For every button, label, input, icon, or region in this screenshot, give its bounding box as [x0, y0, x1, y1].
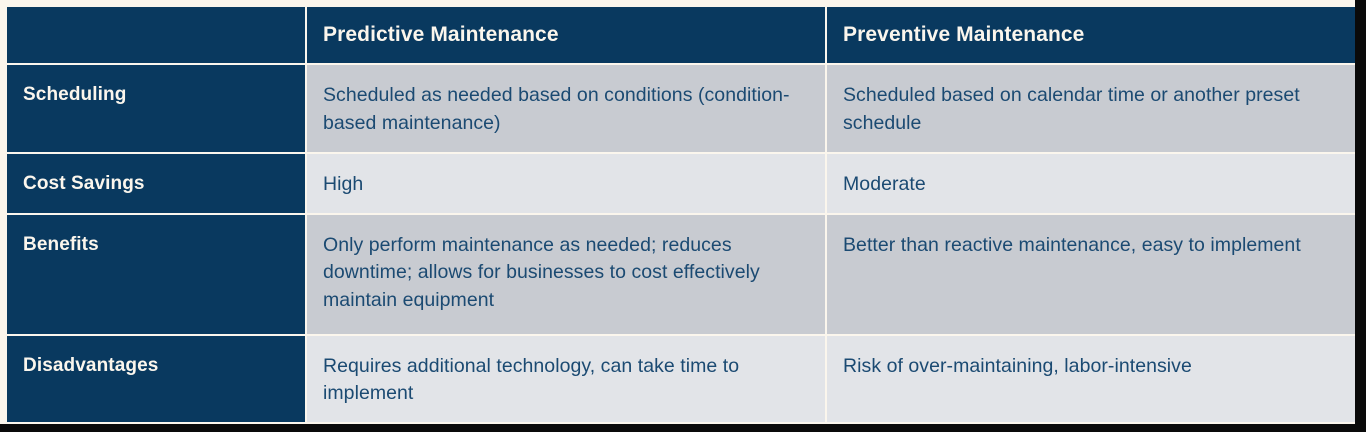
row-label-cell-disadvantages: Disadvantages — [7, 336, 305, 422]
cell-text-benefits-predictive: Only perform maintenance as needed; redu… — [307, 215, 825, 329]
table-header-row: Predictive Maintenance Preventive Mainte… — [7, 7, 1359, 63]
cell-text-benefits-preventive: Better than reactive maintenance, easy t… — [827, 215, 1359, 274]
cell-cost-savings-predictive: High — [307, 154, 825, 213]
header-cell-predictive: Predictive Maintenance — [307, 7, 825, 63]
cell-cost-savings-preventive: Moderate — [827, 154, 1359, 213]
cell-scheduling-preventive: Scheduled based on calendar time or anot… — [827, 65, 1359, 152]
header-blank-label — [7, 7, 305, 63]
row-label-cell-scheduling: Scheduling — [7, 65, 305, 152]
cell-text-disadvantages-preventive: Risk of over-maintaining, labor-intensiv… — [827, 336, 1359, 395]
header-cell-blank — [7, 7, 305, 63]
row-label-cell-cost-savings: Cost Savings — [7, 154, 305, 213]
comparison-table-canvas: Predictive Maintenance Preventive Mainte… — [0, 0, 1366, 432]
table-row: Scheduling Scheduled as needed based on … — [7, 65, 1359, 152]
cell-text-disadvantages-predictive: Requires additional technology, can take… — [307, 336, 825, 422]
page-edge-bottom — [0, 424, 1366, 432]
cell-text-cost-savings-predictive: High — [307, 154, 825, 213]
row-label-cell-benefits: Benefits — [7, 215, 305, 334]
table-row: Cost Savings High Moderate — [7, 154, 1359, 213]
cell-disadvantages-preventive: Risk of over-maintaining, labor-intensiv… — [827, 336, 1359, 422]
cell-scheduling-predictive: Scheduled as needed based on conditions … — [307, 65, 825, 152]
header-label-preventive: Preventive Maintenance — [827, 22, 1359, 47]
row-label-scheduling: Scheduling — [7, 65, 305, 123]
cell-benefits-predictive: Only perform maintenance as needed; redu… — [307, 215, 825, 334]
cell-disadvantages-predictive: Requires additional technology, can take… — [307, 336, 825, 422]
cell-text-cost-savings-preventive: Moderate — [827, 154, 1359, 213]
cell-benefits-preventive: Better than reactive maintenance, easy t… — [827, 215, 1359, 334]
page-edge-right — [1355, 0, 1366, 432]
row-label-cost-savings: Cost Savings — [7, 154, 305, 212]
row-label-benefits: Benefits — [7, 215, 305, 273]
row-label-disadvantages: Disadvantages — [7, 336, 305, 394]
cell-text-scheduling-predictive: Scheduled as needed based on conditions … — [307, 65, 825, 151]
table-row: Benefits Only perform maintenance as nee… — [7, 215, 1359, 334]
maintenance-comparison-table: Predictive Maintenance Preventive Mainte… — [5, 5, 1361, 424]
cell-text-scheduling-preventive: Scheduled based on calendar time or anot… — [827, 65, 1359, 151]
table-row: Disadvantages Requires additional techno… — [7, 336, 1359, 422]
header-cell-preventive: Preventive Maintenance — [827, 7, 1359, 63]
header-label-predictive: Predictive Maintenance — [307, 22, 825, 47]
